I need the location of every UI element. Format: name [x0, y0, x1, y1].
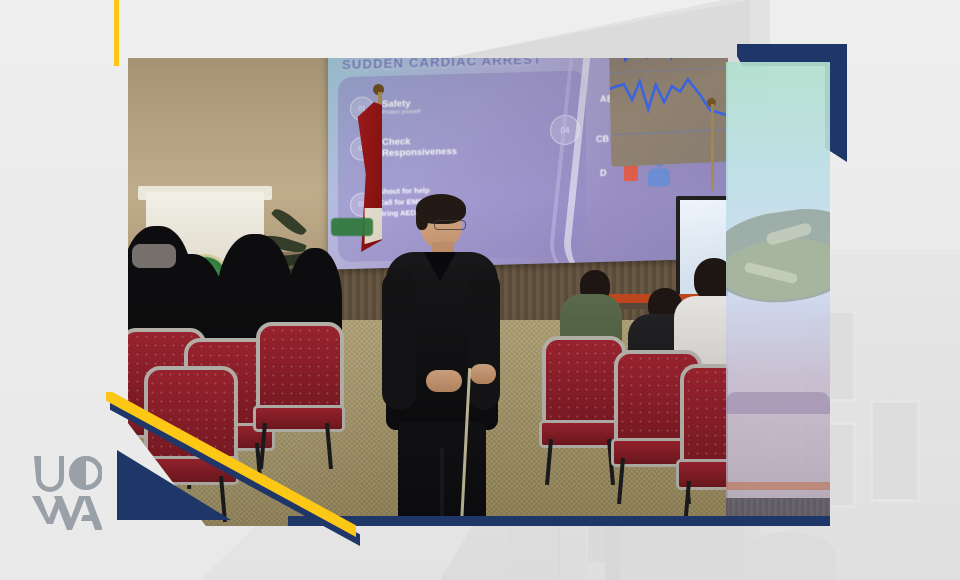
watermark-window: [870, 400, 920, 502]
chair-seat: [676, 459, 728, 489]
chair-back: [680, 364, 728, 470]
attendee-head: [694, 258, 728, 300]
overlay-band: [726, 392, 830, 414]
second-flag-pole: [711, 104, 714, 190]
step-sub: Protect yourself: [382, 109, 420, 117]
presenter-leg-split: [440, 448, 444, 526]
flag-green-emblem: [331, 218, 373, 236]
overlay-desk-edge: [726, 482, 830, 490]
poster-canvas: SUDDEN CARDIAC ARREST 01 Safety Protect …: [0, 0, 960, 580]
step-sub: Responsiveness: [382, 146, 457, 159]
step-text: Check Responsiveness: [382, 135, 457, 159]
presenter-arm-right: [468, 270, 500, 410]
overlay-illustration-panel: [726, 62, 830, 526]
slide-title: SUDDEN CARDIAC ARREST: [342, 58, 542, 72]
person-body: [648, 168, 670, 187]
chair: [542, 336, 618, 456]
watermark-shrub: [740, 532, 836, 580]
uowa-logo: [30, 452, 102, 532]
presenter-hand-right: [470, 364, 496, 384]
step-text: Safety Protect yourself: [382, 98, 420, 117]
uowa-logo-icon: [30, 452, 102, 532]
attendee-patterned-scarf: [132, 244, 176, 268]
presenter-hand-left: [426, 370, 462, 392]
presenter-arm-left: [382, 270, 416, 410]
presenter-glasses: [434, 220, 466, 230]
chair: [680, 364, 728, 500]
presenter-hair-side: [416, 208, 428, 230]
accent-bar-navy-bottom: [288, 516, 830, 526]
accent-rule-yellow-vertical: [114, 0, 119, 66]
presenter: [378, 198, 504, 526]
